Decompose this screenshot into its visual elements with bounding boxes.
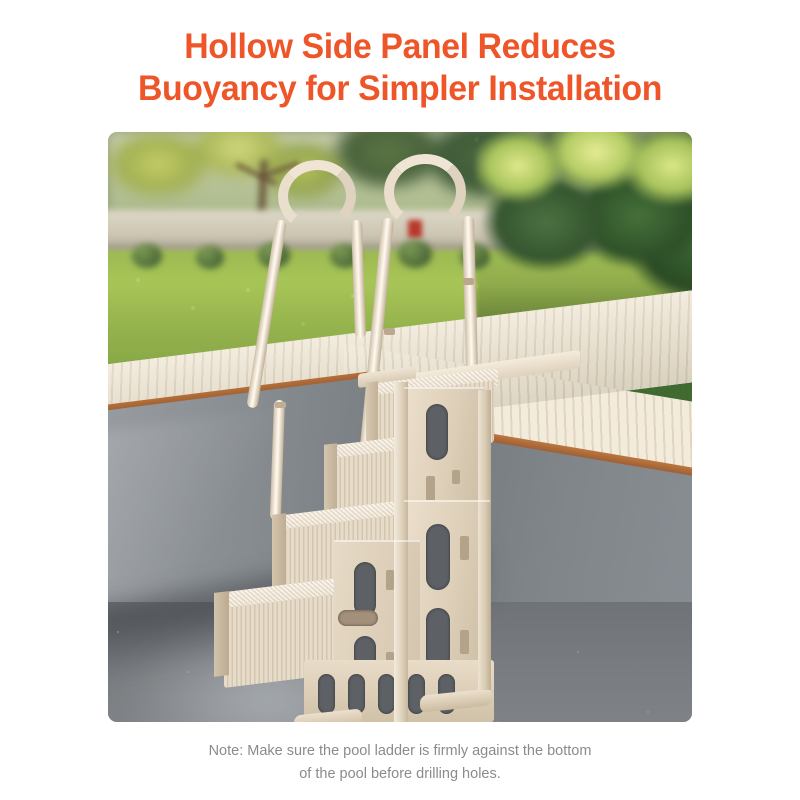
- product-photo: [108, 132, 692, 722]
- pool-ladder: [108, 132, 692, 722]
- panel-cutout-oval: [426, 404, 448, 460]
- panel-slot: [460, 536, 469, 560]
- frame-edge-highlight: [334, 540, 420, 542]
- headline: Hollow Side Panel Reduces Buoyancy for S…: [14, 26, 786, 110]
- frame-crossbar-gap: [338, 610, 378, 626]
- handrail-arc-rear: [276, 157, 359, 234]
- caption-line-1: Note: Make sure the pool ladder is firml…: [0, 740, 800, 763]
- handrail-leg-rear-inner: [351, 220, 366, 338]
- panel-slot: [460, 630, 469, 654]
- caption-line-2: of the pool before drilling holes.: [0, 763, 800, 786]
- frame-slot: [386, 570, 394, 590]
- frame-cutout-oval: [354, 562, 376, 616]
- handrail-joint-front: [463, 278, 474, 285]
- base-cutout-oval: [318, 674, 335, 714]
- step-side-2: [324, 443, 337, 515]
- panel-cutout-oval: [426, 524, 450, 590]
- handrail-arc-front: [383, 153, 468, 232]
- headline-line-1: Hollow Side Panel Reduces: [14, 26, 786, 68]
- support-post-rear: [478, 390, 491, 690]
- product-feature-card: Hollow Side Panel Reduces Buoyancy for S…: [0, 0, 800, 800]
- handrail-joint-front-2: [384, 328, 395, 335]
- panel-slot: [426, 476, 435, 502]
- support-post-center: [394, 382, 408, 722]
- step-side-3: [272, 513, 286, 591]
- headline-line-2: Buoyancy for Simpler Installation: [14, 68, 786, 110]
- panel-slot: [452, 470, 460, 484]
- panel-edge-highlight: [404, 500, 490, 502]
- base-cutout-oval: [348, 674, 365, 714]
- handrail-post-rear: [270, 400, 285, 520]
- handrail-leg-rear-outer: [246, 219, 287, 408]
- base-cutout-oval: [378, 674, 395, 714]
- step-side-4: [214, 591, 229, 677]
- handrail-joint-rear: [275, 402, 286, 408]
- panel-edge-highlight: [404, 387, 484, 389]
- caption-note: Note: Make sure the pool ladder is firml…: [0, 740, 800, 786]
- step-side-1: [366, 381, 378, 448]
